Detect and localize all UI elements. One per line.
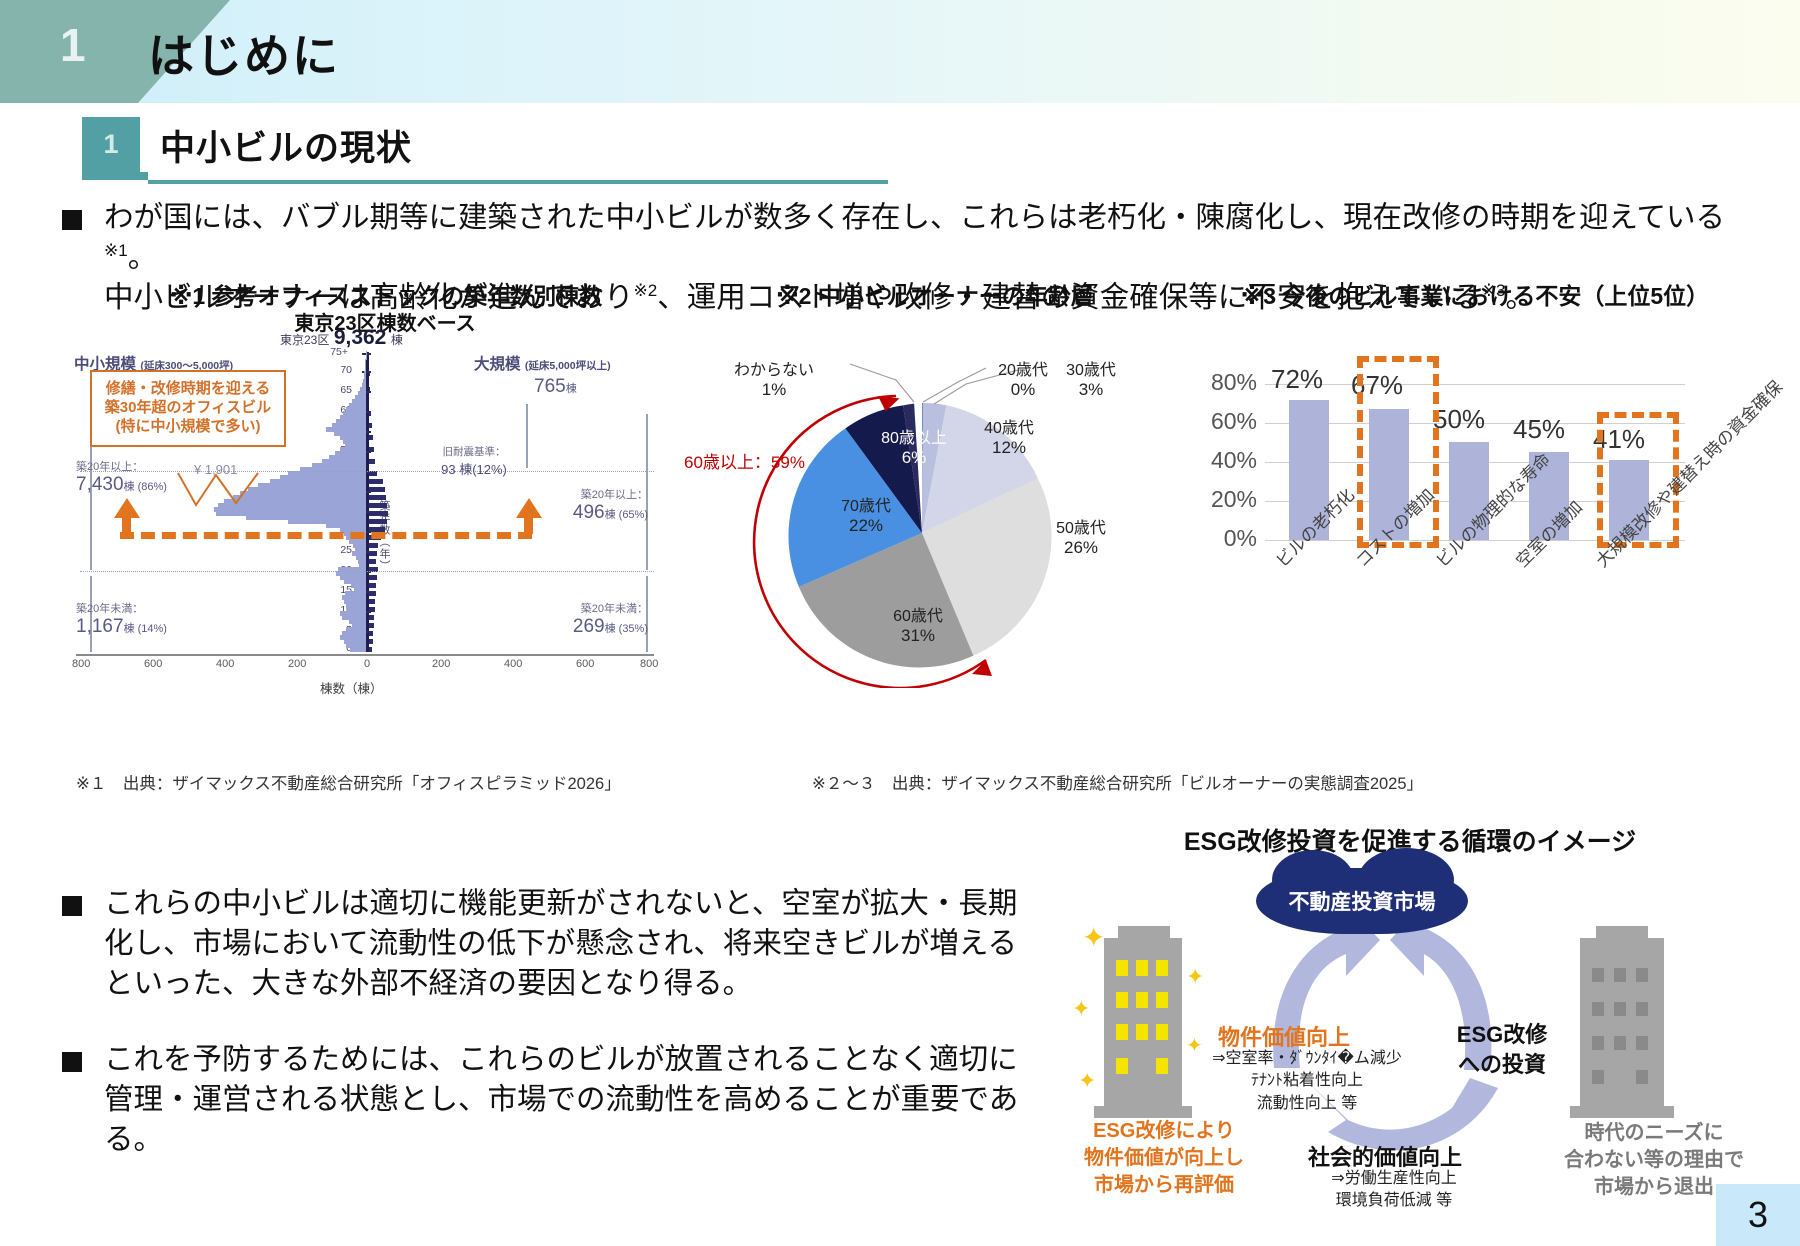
esg-window: [1592, 1036, 1604, 1050]
bottom-bullet-2: これを予防するためには、これらのビルが放置されることなく適切に管理・運営される状…: [62, 1040, 1072, 1159]
fig1-callout-box: 修繕・改修時期を迎える 築30年超のオフィスビル (特に中小規模で多い): [90, 370, 286, 447]
esg-window: [1136, 960, 1148, 976]
fig1-ytickmark: [362, 353, 371, 355]
esg-window: [1156, 992, 1168, 1008]
fig1-xtick-800R: 800: [640, 658, 658, 670]
fig1-bar-large: [369, 371, 370, 376]
top-bullet-sup1: ※1: [104, 241, 128, 260]
esg-investment-label: ESG改修 への投資: [1442, 1020, 1562, 1079]
page-title: はじめに: [148, 20, 340, 86]
esg-building-outdated-top: [1596, 926, 1648, 940]
fig1-bar-large: [369, 615, 374, 620]
esg-social-value-details: ⇒労働生産性向上 環境負荷低減 等: [1304, 1168, 1484, 1213]
fig1-xtick-600L: 600: [144, 658, 162, 670]
fig1-ytick-70: 70: [324, 364, 352, 376]
esg-window: [1156, 1058, 1168, 1074]
fig1-bar-large: [369, 503, 387, 508]
fig1-right-group-title: 大規模 (延床5,000坪以上): [474, 352, 611, 374]
fig1-xtick-600R: 600: [576, 658, 594, 670]
esg-window: [1136, 1024, 1148, 1040]
fig1-bar-large: [369, 591, 376, 596]
esg-window: [1116, 1058, 1128, 1074]
esg-window: [1156, 1024, 1168, 1040]
fig1-old-std-arrow: [526, 404, 528, 468]
fig2-caption: ※2 中小ビルオーナーの年齢層: [700, 277, 1170, 311]
esg-window: [1614, 1036, 1626, 1050]
fig3-ytick-60: 60%: [1195, 408, 1257, 435]
bullet-marker: [62, 896, 82, 916]
fig2-label-70s: 70歳代 22%: [826, 492, 906, 536]
sparkle-icon: ✦: [1186, 1036, 1203, 1056]
esg-window: [1636, 1070, 1648, 1084]
slide-root: 1 はじめに 1 中小ビルの現状 わが国には、バブル期等に建築された中小ビルが数…: [0, 0, 1800, 1246]
bottom-bullet-1-text: これらの中小ビルは適切に機能更新がされないと、空室が拡大・長期化し、市場において…: [104, 884, 1044, 1003]
esg-building-renovated-base: [1094, 1106, 1192, 1118]
fig1-callout-tail: [178, 473, 268, 513]
fig2-label-50s: 50歳代 26%: [1042, 514, 1120, 558]
fig1-bar-large: [369, 639, 373, 644]
fig2-annotation-label: 60歳以上：59%: [684, 448, 805, 473]
esg-window: [1592, 1070, 1604, 1084]
esg-window: [1136, 992, 1148, 1008]
fig1-highlight-dashed-line: [120, 532, 532, 539]
fig1-left-over20: 築20年以上： 7,430棟 (86%): [76, 458, 167, 496]
fig2-label-40s: 40歳代 12%: [970, 414, 1048, 458]
fig1-xtick-400L: 400: [216, 658, 234, 670]
esg-window: [1614, 1002, 1626, 1016]
esg-value-up-details: ⇒空室率・ﾀﾞｳﾝﾀｲ�ム減少 ﾃﾅﾝﾄ粘着性向上 流動性向上 等: [1212, 1048, 1402, 1115]
bottom-bullet-1: これらの中小ビルは適切に機能更新がされないと、空室が拡大・長期化し、市場において…: [62, 884, 1072, 1003]
top-bullet-sup2: ※2: [634, 281, 658, 300]
fig1-bar-large: [369, 411, 371, 416]
fig1-xtick-800L: 800: [72, 658, 90, 670]
fig1-bar-large: [369, 543, 378, 548]
fig2-label-80plus: 80歳以上 6%: [868, 424, 960, 468]
esg-window: [1614, 968, 1626, 982]
esg-building-outdated: [1580, 938, 1664, 1110]
fig3-ytick-80: 80%: [1195, 369, 1257, 396]
fig3-bar-chart: 0% 20% 40% 60% 80% 72% 67% 50% 45% 41% ビ…: [1195, 318, 1755, 698]
fig1-bar-large: [369, 479, 383, 484]
fig1-bar-large: [369, 647, 372, 652]
esg-window: [1636, 1036, 1648, 1050]
fig1-bar-large: [369, 423, 372, 428]
fig2-pie-chart: 20歳代 0% 30歳代 3% 40歳代 12% 50歳代 26% 60歳代 3…: [700, 318, 1170, 688]
top-bullet-line1-tail: 。: [128, 241, 158, 274]
fig1-dotted-line-20: [80, 571, 654, 572]
fig1-left-under20: 築20年未満： 1,167棟 (14%): [76, 600, 167, 638]
fig1-left-highlight-arrow: [114, 498, 140, 518]
fig1-ytick-65: 65: [324, 384, 352, 396]
fig3-caption: ※3 今後のビル事業における不安（上位5位）: [1195, 277, 1755, 311]
sparkle-icon: ✦: [1072, 998, 1090, 1020]
esg-window: [1592, 968, 1604, 982]
fig1-xtick-200L: 200: [288, 658, 306, 670]
fig1-bar-large: [369, 487, 385, 492]
esg-window: [1636, 968, 1648, 982]
fig3-value-0: 72%: [1271, 364, 1323, 395]
fig3-value-2: 50%: [1433, 404, 1485, 435]
fig1-bar-large: [369, 519, 387, 524]
fig1-bar-large: [369, 607, 375, 612]
fig1-large-total: 765棟: [534, 376, 577, 398]
sparkle-icon: ✦: [1082, 924, 1105, 952]
fig1-xtick-200R: 200: [432, 658, 450, 670]
fig1-left-highlight-stem: [122, 516, 131, 534]
fig1-bar-large: [369, 459, 375, 464]
subsection-chip: 1: [82, 117, 140, 172]
esg-building-outdated-base: [1570, 1106, 1674, 1118]
fig1-ytick-75: 75+: [320, 346, 348, 358]
fig1-xaxis-title: 棟数（棟）: [320, 678, 383, 697]
fig1-bar-large: [369, 575, 377, 580]
esg-window: [1116, 960, 1128, 976]
fig1-xtick-400R: 400: [504, 658, 522, 670]
fig1-pyramid-chart: 東京23区 9,362 棟 75+ 70 65 60 55 50 45 40 3…: [68, 318, 668, 708]
fig3-ytick-40: 40%: [1195, 447, 1257, 474]
esg-left-caption: ESG改修により 物件価値が向上し 市場から再評価: [1074, 1118, 1254, 1199]
fig1-right-over20: 築20年以上： 496棟 (65%): [538, 486, 648, 524]
fig1-xaxis: [76, 654, 654, 656]
fig1-old-seismic-std: 旧耐震基準： 93 棟(12%): [426, 444, 522, 478]
fig1-bar-small: [350, 647, 366, 652]
bullet-marker: [62, 210, 82, 230]
fig1-bar-large: [369, 495, 386, 500]
subsection-rule: [148, 180, 888, 184]
esg-cycle-diagram: 不動産投資市場 ✦ ✦ ✦ ✦ ✦: [1060, 820, 1760, 1220]
fig1-bar-large: [369, 623, 374, 628]
sparkle-icon: ✦: [1078, 1070, 1096, 1092]
fig3-ytick-0: 0%: [1195, 525, 1257, 552]
bullet-marker: [62, 1052, 82, 1072]
sparkle-icon: ✦: [1186, 966, 1204, 988]
fig3-value-3: 45%: [1513, 414, 1565, 445]
fig1-bar-large: [369, 387, 370, 392]
fig2-label-60s: 60歳代 31%: [878, 602, 958, 646]
fig1-bar-large: [369, 511, 388, 516]
esg-building-renovated-top: [1118, 926, 1170, 940]
fig2-label-unknown: わからない 1%: [718, 356, 830, 400]
fig2-label-20s: 20歳代 0%: [988, 356, 1058, 400]
subsection-title: 中小ビルの現状: [160, 120, 412, 171]
header-section-number: 1: [60, 22, 116, 68]
fig1-bar-large: [369, 599, 375, 604]
fig1-ytick-25: 25: [324, 544, 352, 556]
fig1-caption: ※1 参考オフィスストックの築年数別棟数: [170, 277, 600, 311]
fig1-bar-large: [369, 631, 373, 636]
fig2-leader-20s: [923, 368, 986, 402]
fig1-right-highlight-stem: [524, 516, 533, 534]
page-number: 3: [1716, 1184, 1800, 1246]
fig1-xtick-0: 0: [364, 658, 370, 670]
source-note-23: ※２〜３ 出典：ザイマックス不動産総合研究所「ビルオーナーの実態調査2025」: [812, 770, 1423, 794]
fig2-label-30s: 30歳代 3%: [1056, 356, 1126, 400]
fig3-ytick-20: 20%: [1195, 486, 1257, 513]
fig1-bar-large: [369, 551, 377, 556]
bottom-bullet-2-text: これを予防するためには、これらのビルが放置されることなく適切に管理・運営される状…: [104, 1040, 1044, 1159]
subsection-number: 1: [82, 117, 140, 172]
esg-window: [1156, 960, 1168, 976]
subsection-rule-tail: [82, 172, 148, 180]
top-bullet-line1: わが国には、バブル期等に建築された中小ビルが数多く存在し、これらは老朽化・陳腐化…: [104, 201, 1725, 234]
fig1-bar-large: [369, 435, 373, 440]
fig1-right-under20: 築20年未満： 269棟 (35%): [538, 600, 648, 638]
fig1-bar-large: [369, 447, 374, 452]
fig1-right-highlight-arrow: [516, 498, 542, 518]
esg-window: [1636, 1002, 1648, 1016]
fig1-bar-large: [369, 583, 376, 588]
esg-window: [1592, 1002, 1604, 1016]
esg-window: [1116, 1024, 1128, 1040]
fig1-bar-large: [369, 559, 376, 564]
esg-window: [1116, 992, 1128, 1008]
source-note-1: ※１ 出典：ザイマックス不動産総合研究所「オフィスピラミッド2026」: [76, 770, 621, 794]
esg-market-node-label: 不動産投資市場: [1256, 886, 1468, 916]
